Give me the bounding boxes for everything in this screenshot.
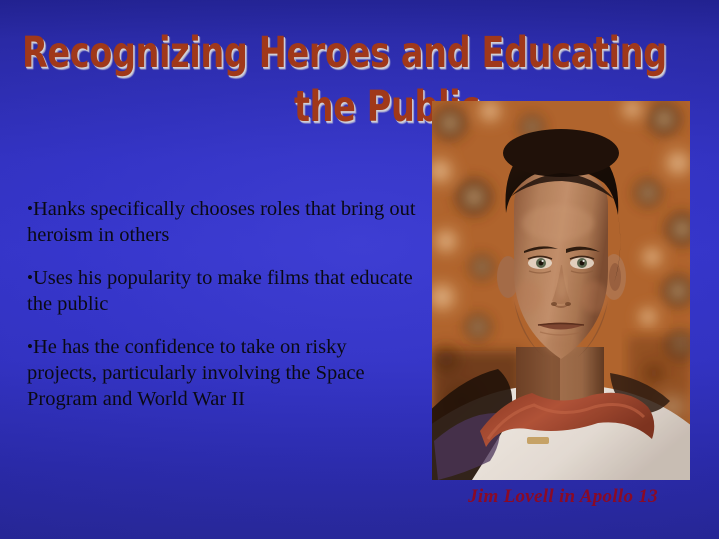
bullet-item-text: Hanks specifically chooses roles that br…: [27, 198, 416, 246]
tom-hanks-as-jim-lovell-photo: [432, 101, 690, 480]
slide-title-line-1: Recognizing Heroes and Educating: [22, 26, 490, 80]
bullet-item: •Uses his popularity to make films that …: [27, 265, 419, 317]
bullet-item: •Hanks specifically chooses roles that b…: [27, 196, 419, 248]
bullet-item: •He has the confidence to take on risky …: [27, 334, 419, 412]
bullet-item-text: Uses his popularity to make films that e…: [27, 267, 413, 315]
bullet-item-text: He has the confidence to take on risky p…: [27, 336, 365, 410]
photo-caption: Jim Lovell in Apollo 13: [432, 486, 694, 508]
slide-body-bullet-list: •Hanks specifically chooses roles that b…: [27, 196, 419, 412]
presentation-slide: Recognizing Heroes and Educating the Pub…: [0, 0, 719, 539]
photo-illustration: [432, 101, 690, 480]
